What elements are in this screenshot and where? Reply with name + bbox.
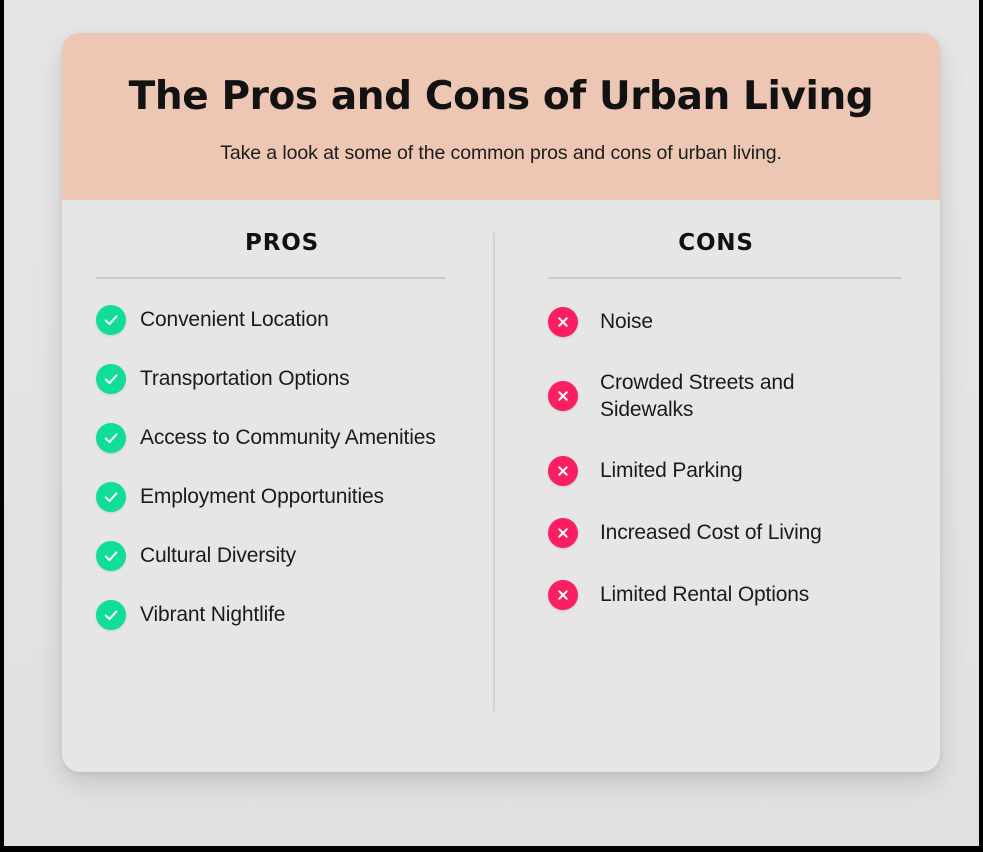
check-circle-icon xyxy=(96,541,126,571)
x-circle-icon xyxy=(548,518,578,548)
list-item[interactable]: Limited Rental Options xyxy=(548,580,902,610)
pros-column: PROS Convenient Location xyxy=(62,200,492,772)
page-title: The Pros and Cons of Urban Living xyxy=(62,75,940,120)
pros-column-heading: PROS xyxy=(96,230,490,256)
cons-column-heading: CONS xyxy=(548,230,902,256)
list-item[interactable]: Limited Parking xyxy=(548,456,902,486)
list-item[interactable]: Convenient Location xyxy=(96,305,490,335)
list-item-label: Access to Community Amenities xyxy=(140,424,436,451)
x-circle-icon xyxy=(548,381,578,411)
list-item[interactable]: Cultural Diversity xyxy=(96,541,490,571)
list-item[interactable]: Vibrant Nightlife xyxy=(96,600,490,630)
cons-heading-rule xyxy=(548,277,902,279)
list-item[interactable]: Crowded Streets and Sidewalks xyxy=(548,369,902,424)
list-item[interactable]: Employment Opportunities xyxy=(96,482,490,512)
check-circle-icon xyxy=(96,305,126,335)
list-item-label: Noise xyxy=(600,308,653,335)
list-item-label: Crowded Streets and Sidewalks xyxy=(600,369,890,424)
list-item[interactable]: Transportation Options xyxy=(96,364,490,394)
list-item-label: Limited Rental Options xyxy=(600,581,809,608)
cons-list: Noise Crowded Streets and Sidewalks xyxy=(548,307,902,610)
x-circle-icon xyxy=(548,456,578,486)
list-item-label: Increased Cost of Living xyxy=(600,519,822,546)
page-subtitle: Take a look at some of the common pros a… xyxy=(62,141,940,166)
list-item-label: Cultural Diversity xyxy=(140,542,296,569)
list-item[interactable]: Increased Cost of Living xyxy=(548,518,902,548)
x-circle-icon xyxy=(548,580,578,610)
list-item[interactable]: Noise xyxy=(548,307,902,337)
list-item[interactable]: Access to Community Amenities xyxy=(96,423,490,453)
pros-heading-rule xyxy=(96,277,446,279)
pros-list: Convenient Location Transportation Optio… xyxy=(96,305,490,630)
card-header: The Pros and Cons of Urban Living Take a… xyxy=(62,33,940,200)
list-item-label: Convenient Location xyxy=(140,306,329,333)
check-circle-icon xyxy=(96,423,126,453)
pros-cons-card: The Pros and Cons of Urban Living Take a… xyxy=(62,33,940,772)
list-item-label: Vibrant Nightlife xyxy=(140,601,285,628)
page-canvas: The Pros and Cons of Urban Living Take a… xyxy=(4,0,979,846)
list-item-label: Transportation Options xyxy=(140,365,350,392)
cons-column: CONS Noise xyxy=(492,200,940,772)
card-body: PROS Convenient Location xyxy=(62,200,940,772)
list-item-label: Limited Parking xyxy=(600,457,742,484)
check-circle-icon xyxy=(96,600,126,630)
check-circle-icon xyxy=(96,482,126,512)
x-circle-icon xyxy=(548,307,578,337)
check-circle-icon xyxy=(96,364,126,394)
list-item-label: Employment Opportunities xyxy=(140,483,384,510)
